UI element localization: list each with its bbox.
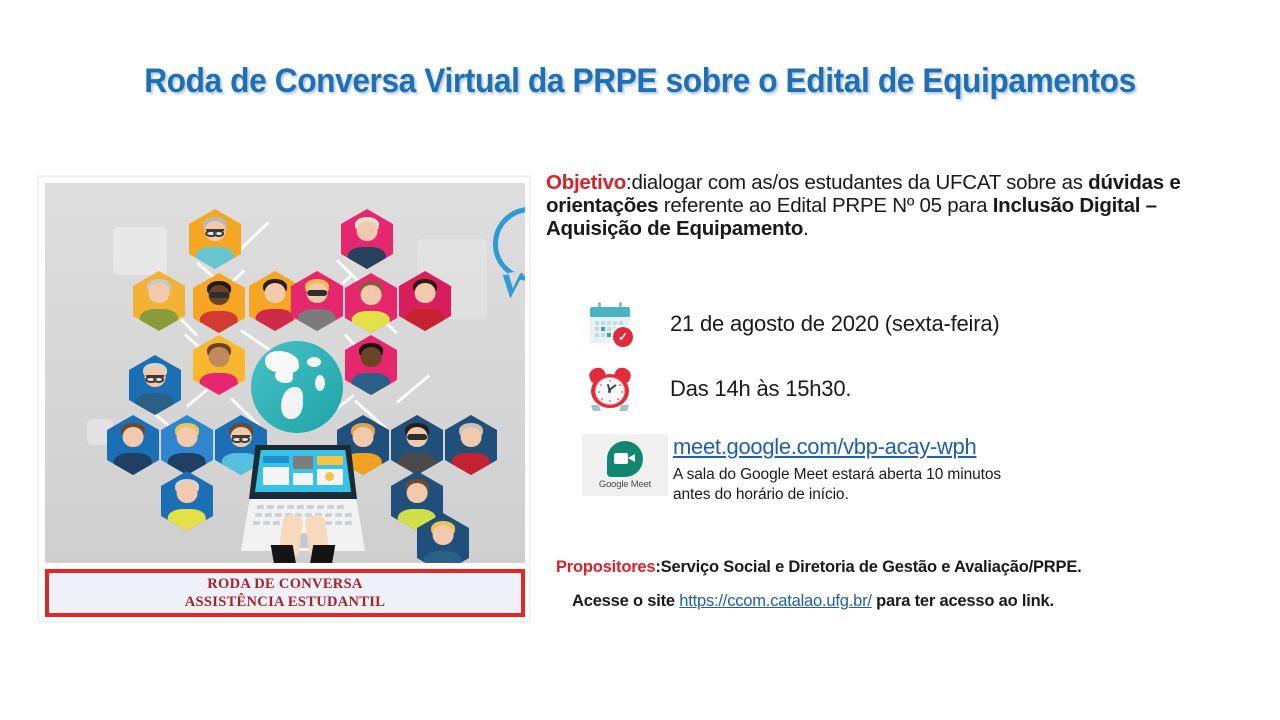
cord-icon <box>291 409 293 445</box>
meet-row: Google Meet meet.google.com/vbp-acay-wph… <box>582 434 1001 505</box>
objective-paragraph: Objetivo:dialogar com as/os estudantes d… <box>546 172 1236 241</box>
objective-label: Objetivo <box>546 171 626 194</box>
connector-line <box>396 374 430 403</box>
meet-link[interactable]: meet.google.com/vbp-acay-wph <box>673 434 976 460</box>
network-illustration <box>45 183 525 563</box>
event-date-row: ✓ 21 de agosto de 2020 (sexta-feira) <box>588 302 1000 346</box>
content-column: Objetivo:dialogar com as/os estudantes d… <box>546 172 1236 241</box>
site-link[interactable]: https://ccom.catalao.ufg.br/ <box>679 592 872 610</box>
event-date-text: 21 de agosto de 2020 (sexta-feira) <box>670 311 1000 337</box>
google-meet-icon <box>607 441 643 477</box>
avatar-hexagon <box>193 273 245 333</box>
proposers-line: Propositores:Serviço Social e Diretoria … <box>556 558 1082 577</box>
access-text-before: Acesse o site <box>572 592 679 610</box>
event-time-row: Das 14h às 15h30. <box>588 367 851 411</box>
avatar-hexagon <box>391 415 443 475</box>
event-time-text: Das 14h às 15h30. <box>670 376 851 402</box>
page-title: Roda de Conversa Virtual da PRPE sobre o… <box>101 62 1180 101</box>
laptop-illustration <box>241 445 365 563</box>
google-meet-label: Google Meet <box>599 479 651 490</box>
access-line: Acesse o site https://ccom.catalao.ufg.b… <box>572 592 1054 611</box>
proposers-text: Serviço Social e Diretoria de Gestão e A… <box>661 558 1082 576</box>
globe-icon <box>251 341 343 433</box>
avatar-hexagon <box>133 271 185 331</box>
avatar-hexagon <box>161 471 213 531</box>
caption-line-1: RODA DE CONVERSA <box>185 575 385 593</box>
avatar-hexagon <box>291 271 343 331</box>
access-text-after: para ter acesso ao link. <box>872 592 1054 610</box>
avatar-hexagon <box>189 209 241 269</box>
avatar-hexagon <box>193 335 245 395</box>
meet-text-block: meet.google.com/vbp-acay-wph A sala do G… <box>673 434 1001 505</box>
google-meet-logo: Google Meet <box>582 434 668 496</box>
objective-text-3: . <box>803 217 808 240</box>
alarm-clock-icon <box>588 367 632 411</box>
sleeve-left <box>271 545 298 563</box>
sleeve-right <box>309 545 336 563</box>
proposers-label: Propositores <box>556 558 655 576</box>
slide-canvas: Roda de Conversa Virtual da PRPE sobre o… <box>0 0 1280 720</box>
avatar-hexagon <box>107 415 159 475</box>
avatar-hexagon <box>129 355 181 415</box>
speech-bubble-icon <box>493 207 525 281</box>
meet-note-line-2: antes do horário de início. <box>673 485 1001 505</box>
objective-text-1: dialogar com as/os estudantes da UFCAT s… <box>631 171 1088 194</box>
calendar-icon: ✓ <box>588 302 632 346</box>
objective-text-2: referente ao Edital PRPE Nº 05 para <box>658 194 992 217</box>
meet-note: A sala do Google Meet estará aberta 10 m… <box>673 465 1001 505</box>
illustration-caption: RODA DE CONVERSA ASSISTÊNCIA ESTUDANTIL <box>45 569 525 617</box>
avatar-hexagon <box>445 415 497 475</box>
caption-text: RODA DE CONVERSA ASSISTÊNCIA ESTUDANTIL <box>185 575 385 611</box>
meet-note-line-1: A sala do Google Meet estará aberta 10 m… <box>673 465 1001 485</box>
avatar-hexagon <box>341 209 393 269</box>
illustration-frame: RODA DE CONVERSA ASSISTÊNCIA ESTUDANTIL <box>38 176 530 622</box>
decor-square <box>113 227 167 275</box>
caption-line-2: ASSISTÊNCIA ESTUDANTIL <box>185 593 385 611</box>
laptop-screen <box>255 450 351 492</box>
